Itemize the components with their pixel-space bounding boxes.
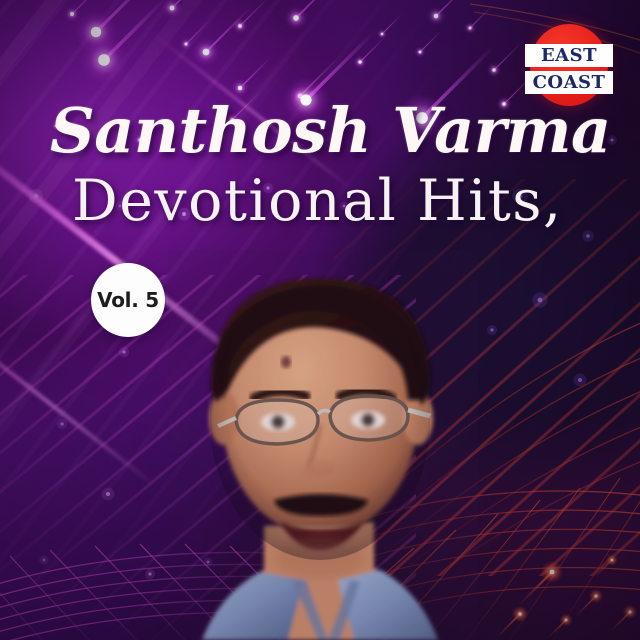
logo-line-2: COAST — [525, 71, 613, 94]
page-title: Santhosh Varma — [50, 94, 611, 167]
volume-badge: Vol. 5 — [91, 263, 165, 337]
album-subtitle: Devotional Hits, — [72, 168, 563, 234]
artist-portrait — [168, 250, 478, 640]
east-coast-logo: EAST COAST — [530, 24, 608, 106]
volume-badge-label: Vol. 5 — [97, 288, 159, 312]
logo-line-1: EAST — [525, 44, 613, 67]
album-cover: Santhosh Varma Devotional Hits, Vol. 5 E… — [0, 0, 640, 640]
